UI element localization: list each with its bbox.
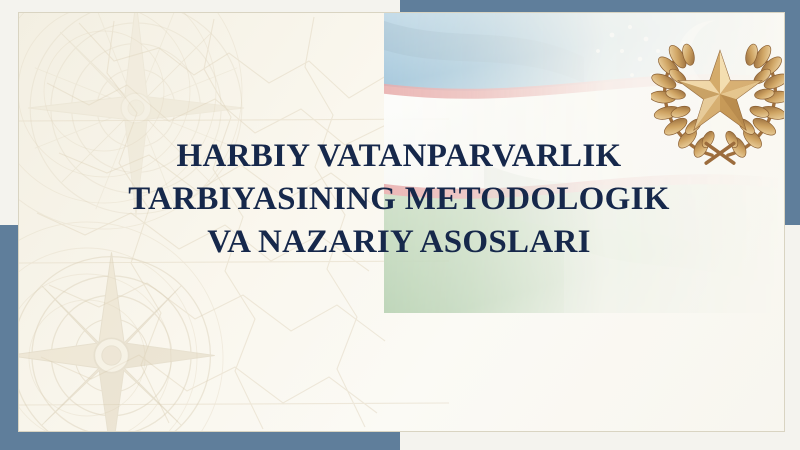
title-line-2: TARBIYASINING METODOLOGIK	[79, 178, 719, 221]
title-line-1: HARBIY VATANPARVARLIK	[79, 135, 719, 178]
slide-title: HARBIY VATANPARVARLIK TARBIYASINING METO…	[79, 135, 719, 264]
slide-content-card: HARBIY VATANPARVARLIK TARBIYASINING METO…	[18, 12, 785, 432]
presentation-slide: HARBIY VATANPARVARLIK TARBIYASINING METO…	[0, 0, 800, 450]
title-line-3: VA NAZARIY ASOSLARI	[79, 221, 719, 264]
